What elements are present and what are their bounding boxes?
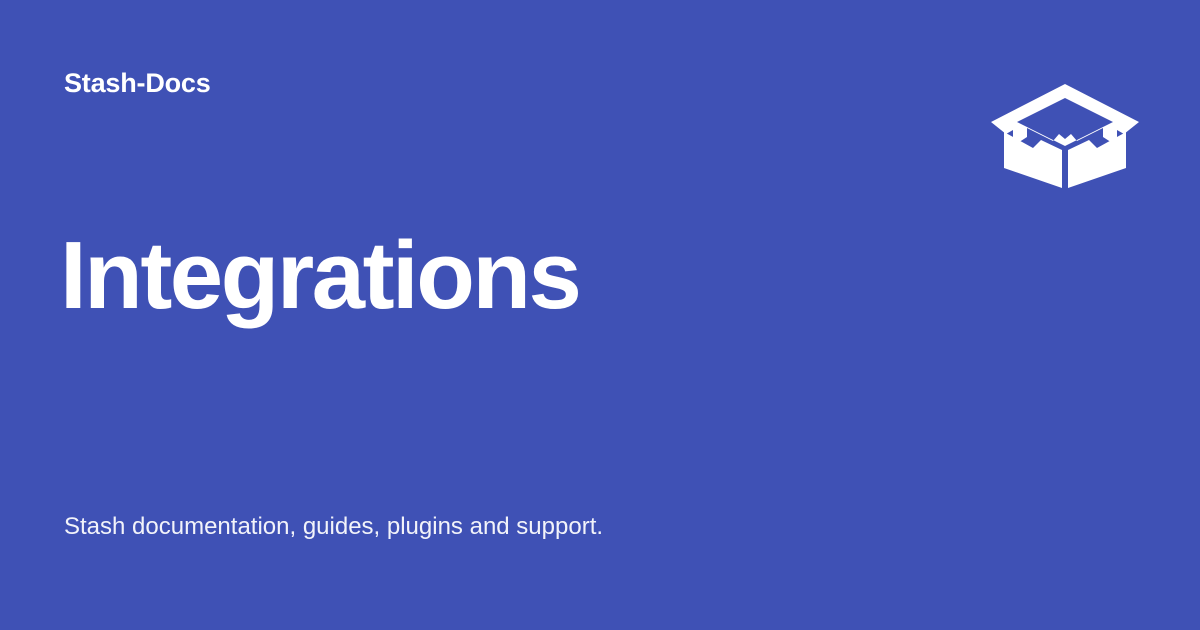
open-graph-card: Stash-Docs Integrations Stash documentat…: [0, 0, 1200, 630]
tagline: Stash documentation, guides, plugins and…: [64, 511, 603, 543]
open-box-icon: [991, 84, 1139, 188]
site-name: Stash-Docs: [64, 66, 211, 100]
page-title: Integrations: [60, 222, 579, 330]
